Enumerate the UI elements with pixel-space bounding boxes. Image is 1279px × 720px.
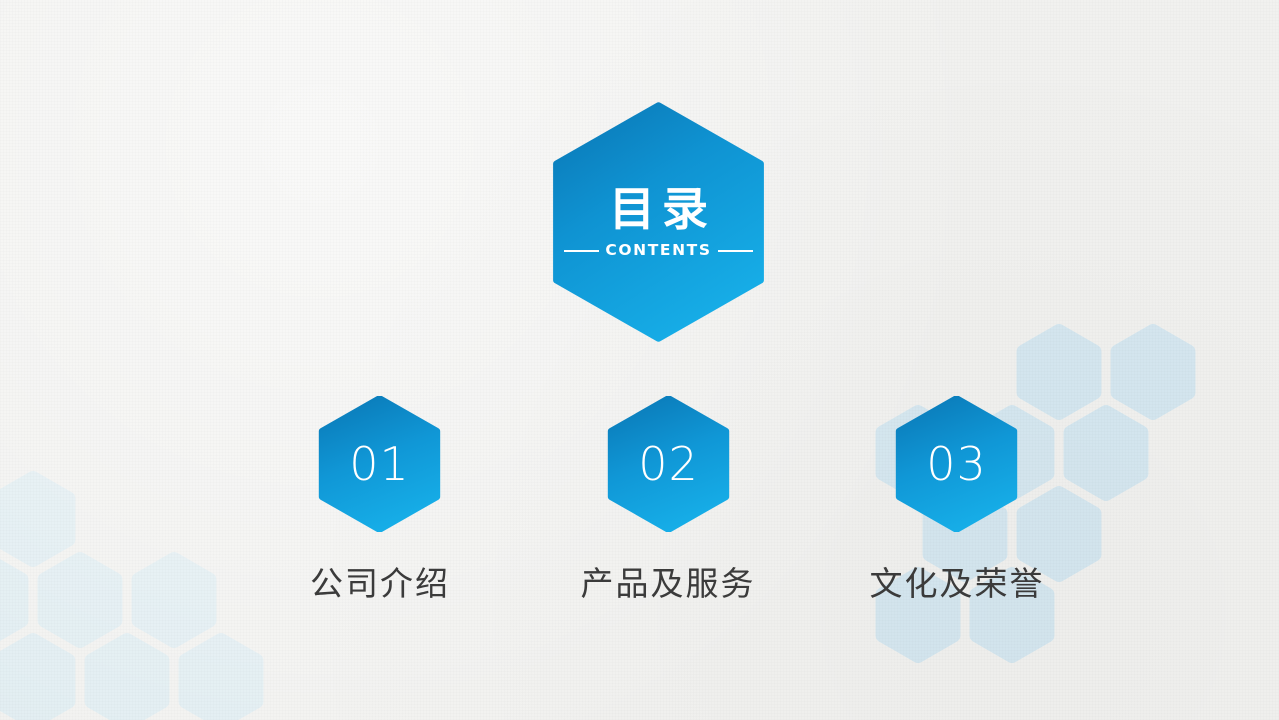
agenda-item-01-number: 01 [313, 441, 446, 487]
contents-badge: 目录 CONTENTS [540, 101, 777, 343]
contents-title: 目录 [540, 186, 777, 232]
slide-canvas: 目录 CONTENTS 01 公司介绍 [0, 0, 1279, 720]
contents-subtitle-row: CONTENTS [540, 243, 777, 259]
agenda-item-02-label[interactable]: 产品及服务 [538, 557, 798, 605]
agenda-item-01-hexagon[interactable]: 01 [313, 396, 446, 532]
rule-right-icon [718, 250, 753, 252]
agenda-item-01-label[interactable]: 公司介绍 [250, 557, 510, 605]
agenda-item-02-number: 02 [602, 441, 735, 487]
rule-left-icon [564, 250, 599, 252]
contents-subtitle: CONTENTS [605, 243, 711, 259]
agenda-item-03-number: 03 [890, 441, 1023, 487]
agenda-item-03-label[interactable]: 文化及荣誉 [827, 557, 1087, 605]
agenda-item-03-hexagon[interactable]: 03 [890, 396, 1023, 532]
agenda-item-02-hexagon[interactable]: 02 [602, 396, 735, 532]
